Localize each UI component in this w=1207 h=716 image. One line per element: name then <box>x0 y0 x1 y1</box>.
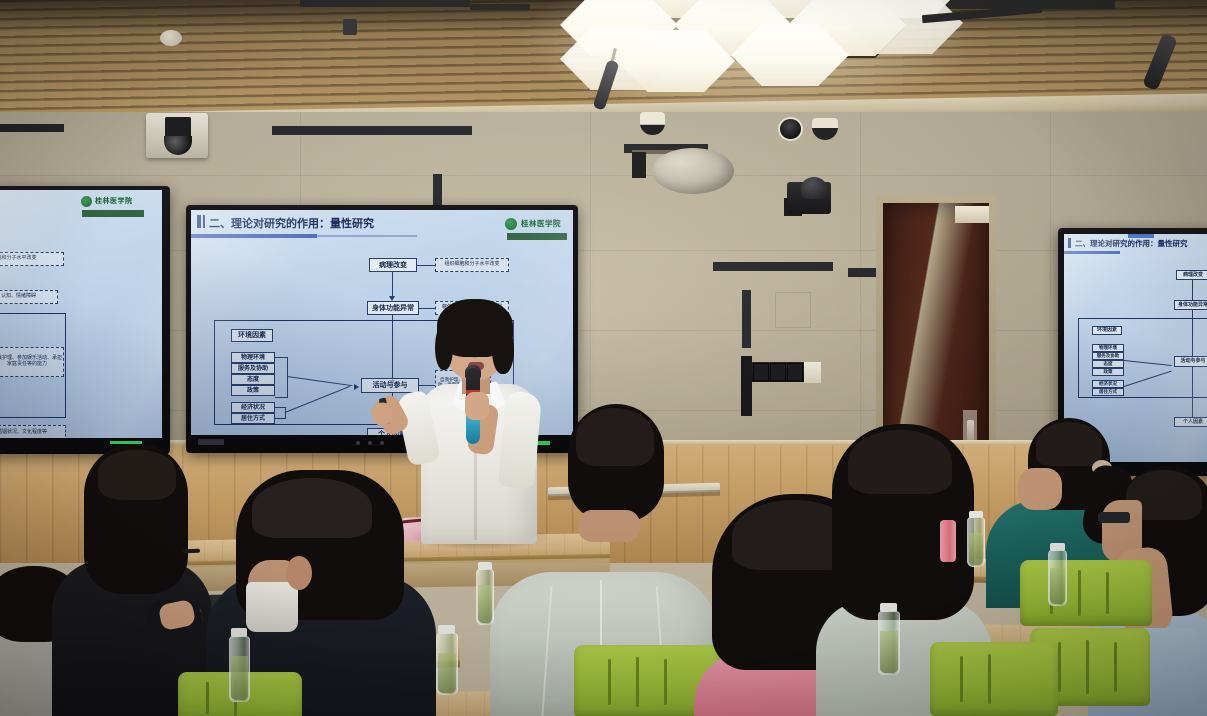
bottle-liquid <box>1050 568 1065 604</box>
chair[interactable] <box>1020 560 1152 626</box>
logo-underbar <box>507 233 567 240</box>
slide-title-rule <box>1064 251 1120 254</box>
diagram-node: 身体功能异常 <box>367 301 419 315</box>
diagram-connector <box>275 397 287 398</box>
display-led <box>356 441 360 445</box>
logo-underbar <box>82 210 144 217</box>
diagram-node: 态度 <box>231 374 275 385</box>
diagram-node: 身体功能异常 <box>1174 300 1207 310</box>
chair-slot <box>1058 642 1061 692</box>
slide-title-marker <box>1068 238 1071 248</box>
dome-camera-icon <box>640 112 665 135</box>
diagram-connector <box>392 272 393 298</box>
diagram-node: 居住方式 <box>231 413 275 424</box>
door-transom-panel <box>955 206 989 223</box>
display-led <box>380 441 384 445</box>
diagram-connector <box>419 385 435 386</box>
diffuser-mount <box>632 152 646 178</box>
diagram-node: 活动与参与 <box>361 378 419 393</box>
bottle-liquid <box>969 533 983 565</box>
logo-text: 桂林医学院 <box>521 218 561 229</box>
diagram-arrow <box>354 384 359 390</box>
audience-member-ear <box>286 556 312 590</box>
pen[interactable] <box>183 549 200 554</box>
ceiling-beam <box>300 0 470 7</box>
chair-slot <box>636 657 639 707</box>
chair-slot <box>1086 640 1089 694</box>
switch-button[interactable] <box>770 363 786 381</box>
chair-slot <box>1114 642 1117 692</box>
slide-title-rule <box>317 235 417 237</box>
water-bottle[interactable] <box>967 517 985 567</box>
diagram-node: 环境因素 <box>1092 326 1122 335</box>
slide-title: 二、理论对研究的作用：量性研究 <box>209 215 374 231</box>
display-led <box>368 441 372 445</box>
acoustic-diffuser <box>652 148 734 194</box>
diagram-connector <box>275 407 285 408</box>
diagram-node: 活动与参与 <box>1174 356 1207 367</box>
diagram-node: 病理改变 <box>1176 270 1207 280</box>
bottle-liquid <box>231 656 248 700</box>
water-bottle[interactable] <box>1048 550 1067 606</box>
chair-slot <box>608 659 611 705</box>
glasses-icon <box>1098 512 1130 523</box>
chair-slot <box>206 682 209 714</box>
chair-slot <box>988 654 991 704</box>
audience-member-hair-highlight <box>98 450 176 500</box>
slide-title-marker <box>197 215 201 228</box>
audience-member-hair-highlight <box>1036 422 1102 466</box>
audience-member-hair-highlight <box>252 478 372 538</box>
audience-member-neck <box>1018 468 1062 510</box>
dome-camera-icon <box>780 119 801 139</box>
face-mask <box>246 582 298 632</box>
diagram-annotation: 年龄、性别、婚姻状况、文化程度等 <box>0 425 66 438</box>
bottle-liquid <box>880 631 898 673</box>
logo-icon <box>81 196 92 207</box>
presenter-right-hand <box>465 392 489 420</box>
pink-thermos[interactable] <box>940 520 956 562</box>
switch-button[interactable] <box>753 363 769 381</box>
diagram-connector <box>287 357 288 398</box>
audience-member-hair-highlight <box>576 408 654 466</box>
left-display-screen[interactable]: 桂林医学院 组织细胞和分子水平改变 躯体功能、认知、情绪障碍 自我护理、参加娱乐… <box>0 190 162 438</box>
display-topbar <box>1128 234 1154 238</box>
diagram-annotation: 组织细胞和分子水平改变 <box>435 258 509 272</box>
slide-title-marker <box>203 215 205 228</box>
slide-title-rule <box>191 234 317 238</box>
ceiling-speaker <box>160 30 182 46</box>
diagram-node: 经济状况 <box>1092 380 1124 388</box>
diagram-connector <box>1192 280 1193 300</box>
switch-button[interactable] <box>787 363 803 381</box>
ceiling-fixture-mount <box>343 19 357 35</box>
diagram-connector <box>419 308 435 309</box>
ptz-camera-head-icon <box>801 177 827 199</box>
chair-slot <box>664 659 667 705</box>
diagram-annotation: 组织细胞和分子水平改变 <box>0 252 64 266</box>
lecture-hall-photo: 桂林医学院 组织细胞和分子水平改变 躯体功能、认知、情绪障碍 自我护理、参加娱乐… <box>0 0 1207 716</box>
diagram-node: 居住方式 <box>1092 388 1124 396</box>
diagram-node: 服务及协助 <box>1092 352 1124 360</box>
slide-title: 二、理论对研究的作用：量性研究 <box>1075 238 1188 249</box>
water-bottle[interactable] <box>436 633 458 695</box>
presenter-hair-left <box>435 322 453 370</box>
diagram-node: 态度 <box>1092 360 1124 368</box>
left-display-bezel: 桂林医学院 组织细胞和分子水平改变 躯体功能、认知、情绪障碍 自我护理、参加娱乐… <box>0 186 170 454</box>
diagram-annotation: 自我护理、参加娱乐活动、承担家庭责任等的能力 <box>0 347 64 377</box>
audience-member-neck <box>578 510 640 542</box>
wall-control-panel[interactable] <box>752 362 804 382</box>
diagram-node: 政策 <box>231 385 275 396</box>
logo-text: 桂林医学院 <box>95 196 133 206</box>
diagram-node: 病理改变 <box>369 258 417 272</box>
display-sensor <box>198 439 224 445</box>
diagram-node: 政策 <box>1092 368 1124 376</box>
logo-icon <box>505 218 517 230</box>
diagram-connector <box>285 407 286 419</box>
ceiling-beam <box>470 4 530 10</box>
diagram-node: 服务及协助 <box>231 363 275 374</box>
water-bottle[interactable] <box>229 636 250 702</box>
chair[interactable] <box>930 642 1058 716</box>
diagram-node: 物理环境 <box>231 352 275 363</box>
diagram-connector <box>417 265 435 266</box>
chair-slot <box>1078 570 1081 616</box>
water-bottle[interactable] <box>878 611 900 675</box>
bottle-liquid <box>478 585 492 623</box>
diagram-node: 经济状况 <box>231 402 275 413</box>
wall-socket[interactable] <box>804 362 821 383</box>
chair-slot <box>960 656 963 702</box>
audience-member-hair-highlight <box>848 430 952 494</box>
chair-slot <box>1106 572 1109 614</box>
water-bottle[interactable] <box>476 569 494 625</box>
diagram-node: 环境因素 <box>231 329 273 342</box>
diagram-connector <box>275 418 285 419</box>
bottle-liquid <box>438 653 456 693</box>
diagram-annotation: 躯体功能、认知、情绪障碍 <box>0 290 58 304</box>
diagram-connector <box>275 357 287 358</box>
diagram-node: 个人因素 <box>1174 417 1207 427</box>
diagram-node: 物理环境 <box>1092 344 1124 352</box>
diagram-connector <box>1192 367 1193 417</box>
